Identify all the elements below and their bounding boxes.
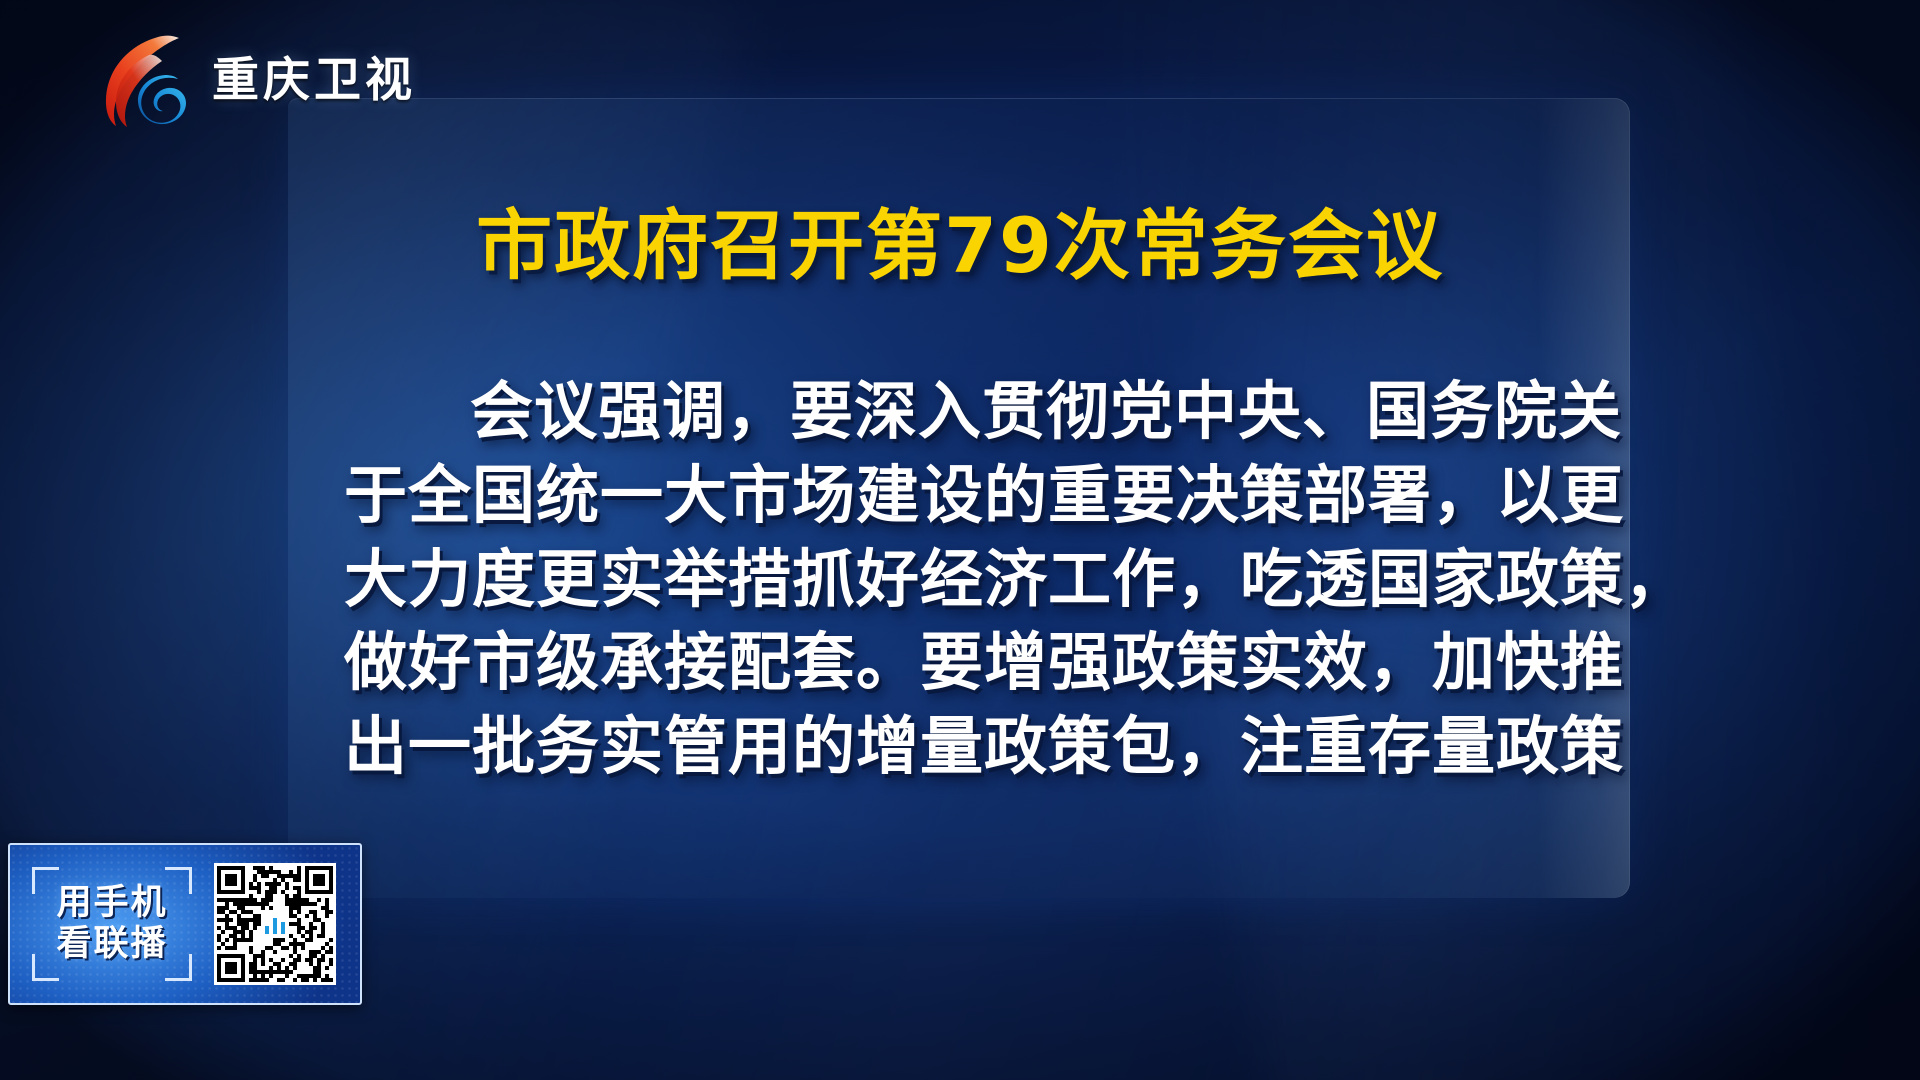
scan-bracket-bottom-right-icon: [165, 954, 192, 981]
qr-code-canvas: [217, 866, 333, 982]
news-body-line: 会议强调，要深入贯彻党中央、国务院关: [344, 370, 1580, 454]
broadcast-frame: 重庆卫视 市政府召开第79次常务会议 会议强调，要深入贯彻党中央、国务院关于全国…: [0, 0, 1920, 1080]
scan-bracket-bottom-left-icon: [32, 954, 59, 981]
scan-bracket-top-right-icon: [165, 867, 192, 894]
promo-caption: 用手机 看联播: [24, 865, 200, 983]
channel-logo: 重庆卫视: [96, 28, 416, 132]
promo-caption-line-2: 看联播: [56, 924, 167, 965]
news-body-text: 会议强调，要深入贯彻党中央、国务院关于全国统一大市场建设的重要决策部署，以更大力…: [344, 370, 1580, 789]
news-body-line: 大力度更实举措抓好经济工作，吃透国家政策，: [344, 538, 1580, 622]
news-body-line: 于全国统一大市场建设的重要决策部署，以更: [344, 454, 1580, 538]
headline-title: 市政府召开第79次常务会议: [0, 205, 1920, 287]
channel-wordmark: 重庆卫视: [212, 57, 416, 104]
news-body-line: 做好市级承接配套。要增强政策实效，加快推: [344, 621, 1580, 705]
promo-caption-line-1: 用手机: [56, 883, 167, 924]
mobile-watch-promo[interactable]: 用手机 看联播: [8, 843, 362, 1005]
scan-bracket-top-left-icon: [32, 867, 59, 894]
qr-code-icon[interactable]: [214, 863, 336, 985]
news-body-line: 出一批务实管用的增量政策包，注重存量政策: [344, 705, 1580, 789]
cqtv-swoosh-logo-icon: [96, 31, 200, 129]
